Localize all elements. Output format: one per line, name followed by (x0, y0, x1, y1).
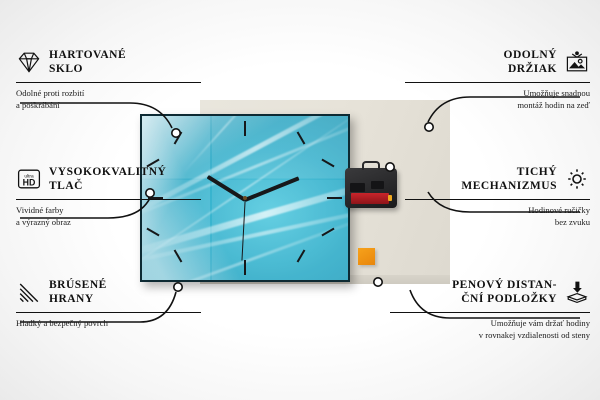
feature-title: ODOLNÝ (504, 48, 557, 62)
feature-title: HARTOVANÉ (49, 48, 126, 62)
feature-desc: Umožňuje snadnou (405, 87, 590, 99)
brushed-edges-icon (16, 280, 42, 304)
diamond-icon (16, 50, 42, 74)
feature-title-2: TLAČ (49, 179, 166, 193)
feature-title: VYSOKOKVALITNÝ (49, 165, 166, 179)
feature-desc-2: v rovnakej vzdialenosti od steny (390, 329, 590, 341)
feature-title-2: SKLO (49, 62, 126, 76)
feature-durable-hanger: ODOLNÝ DRŽIAK Umožňuje snadnou montáž ho… (405, 48, 590, 112)
clock-mechanism (345, 168, 397, 208)
svg-text:HD: HD (23, 178, 36, 188)
infographic-stage: HARTOVANÉ SKLO Odolné proti rozbití a po… (0, 0, 600, 400)
divider (390, 312, 590, 313)
divider (405, 199, 590, 200)
feature-silent-mechanism: TICHÝ MECHANIZMUS Hodinové ručičky bez z… (405, 165, 590, 229)
foam-spacer-icon (564, 280, 590, 304)
divider (405, 82, 590, 83)
feature-title-2: ČNÍ PODLOŽKY (452, 292, 557, 306)
feature-desc: Odolné proti rozbití (16, 87, 201, 99)
picture-hanger-icon (564, 50, 590, 74)
feature-polished-edges: BRÚSENÉ HRANY Hladký a bezpečný povrch (16, 278, 201, 329)
divider (16, 199, 201, 200)
mechanism-slot (371, 181, 384, 189)
feature-title: PENOVÝ DISTAN- (452, 278, 557, 292)
mechanism-slot (350, 183, 365, 192)
gear-icon (564, 167, 590, 191)
clock-center-hub (243, 196, 247, 200)
feature-title-2: HRANY (49, 292, 107, 306)
feature-title-2: DRŽIAK (504, 62, 557, 76)
divider (16, 312, 201, 313)
battery (351, 193, 389, 204)
ultra-hd-badge-icon: ultra HD (16, 167, 42, 191)
feature-desc: Hladký a bezpečný povrch (16, 317, 201, 329)
feature-high-quality-print: ultra HD VYSOKOKVALITNÝ TLAČ Vividné far… (16, 165, 201, 229)
divider (16, 82, 201, 83)
feature-title-2: MECHANIZMUS (461, 179, 557, 193)
feature-desc: Vividné farby (16, 204, 201, 216)
feature-desc-2: bez zvuku (405, 216, 590, 228)
feature-title: BRÚSENÉ (49, 278, 107, 292)
foam-spacer-pad (358, 248, 375, 265)
feature-title: TICHÝ (461, 165, 557, 179)
feature-desc-2: a výrazný obraz (16, 216, 201, 228)
feature-tempered-glass: HARTOVANÉ SKLO Odolné proti rozbití a po… (16, 48, 201, 112)
feature-desc: Hodinové ručičky (405, 204, 590, 216)
feature-foam-spacers: PENOVÝ DISTAN- ČNÍ PODLOŽKY Umožňuje vám… (390, 278, 590, 342)
mechanism-hanger-icon (362, 161, 380, 170)
feature-desc: Umožňuje vám držať hodiny (390, 317, 590, 329)
feature-desc-2: montáž hodin na zeď (405, 99, 590, 111)
feature-desc-2: a poškrábání (16, 99, 201, 111)
